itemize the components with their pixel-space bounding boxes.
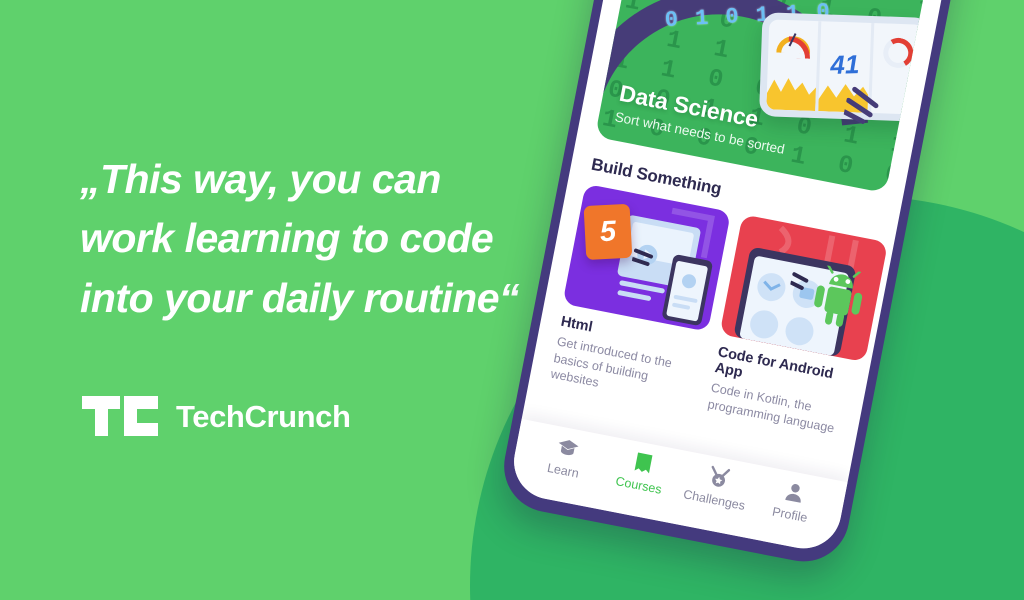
html5-badge-icon: 5 <box>584 204 633 260</box>
tab-profile[interactable]: Profile <box>751 474 834 529</box>
techcrunch-brand-lockup: TechCrunch <box>82 396 351 436</box>
tab-label-challenges: Challenges <box>682 487 746 513</box>
tab-label-learn: Learn <box>546 461 580 481</box>
quote-block: „This way, you can work learning to code… <box>80 150 600 328</box>
techcrunch-wordmark: TechCrunch <box>176 401 351 432</box>
tab-label-courses: Courses <box>614 474 662 497</box>
motion-lines-decoration <box>630 246 660 273</box>
techcrunch-tc-mark-icon <box>82 396 160 436</box>
gadget-gauge-cell <box>766 19 818 111</box>
spark-lines-decoration <box>842 84 889 131</box>
course-card-html[interactable]: 5 Html Get introduced to the basics of b… <box>547 184 731 410</box>
tab-courses[interactable]: Courses <box>600 445 683 500</box>
dashboard-gadget-illustration: 41 <box>759 12 927 122</box>
wave-chart-decoration <box>766 63 817 111</box>
quote-text: „This way, you can work learning to code… <box>80 150 600 328</box>
html5-badge-text: 5 <box>599 217 617 247</box>
tab-label-profile: Profile <box>771 505 808 526</box>
course-thumbnail-html: 5 <box>562 184 731 332</box>
donut-chart-icon <box>880 35 916 71</box>
medal-icon <box>706 465 732 491</box>
course-card-list: 5 Html Get introduced to the basics of b… <box>547 184 876 438</box>
graduation-cap-icon <box>555 435 581 461</box>
course-thumbnail-android <box>720 214 889 362</box>
promo-card: „This way, you can work learning to code… <box>0 0 1024 600</box>
course-card-android[interactable]: Code for Android App Code in Kotlin, the… <box>704 214 888 440</box>
book-icon <box>630 450 656 476</box>
tab-challenges[interactable]: Challenges <box>675 459 758 514</box>
motion-lines-decoration-3 <box>789 271 814 295</box>
tab-learn[interactable]: Learn <box>524 430 607 485</box>
person-icon <box>781 479 807 505</box>
